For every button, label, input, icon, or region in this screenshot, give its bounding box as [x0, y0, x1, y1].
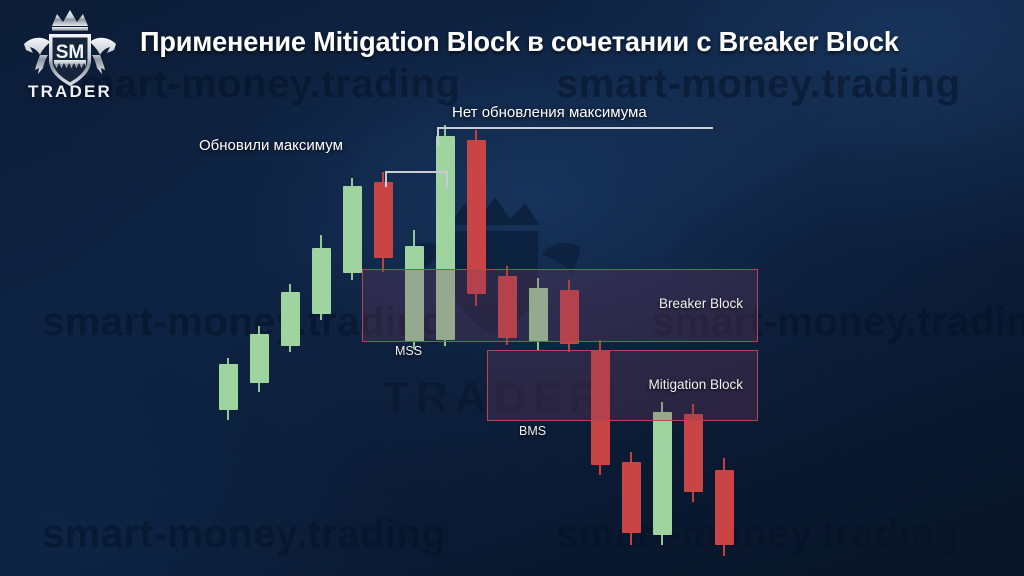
logo-monogram: SM: [56, 42, 85, 63]
candle-body: [653, 412, 672, 535]
candle-body: [684, 414, 703, 492]
annotation-bms: BMS: [519, 424, 546, 438]
candle-5: [343, 178, 362, 280]
breaker-block-zone[interactable]: Breaker Block: [362, 269, 758, 342]
annotation-updated-high-tick-left: [385, 171, 387, 187]
candle-6: [374, 172, 393, 272]
candle-body: [343, 186, 362, 273]
candle-body: [281, 292, 300, 346]
page-title: Применение Mitigation Block в сочетании …: [140, 26, 976, 58]
annotation-no-new-high-tick: [437, 127, 439, 146]
annotation-mss: MSS: [395, 344, 422, 358]
annotation-no-new-high: Нет обновления максимума: [452, 104, 647, 121]
candle-15: [653, 402, 672, 545]
breaker-block-label: Breaker Block: [659, 296, 743, 311]
annotation-updated-high: Обновили максимум: [199, 137, 343, 154]
candle-3: [281, 284, 300, 352]
mitigation-block-label: Mitigation Block: [648, 377, 743, 392]
candle-4: [312, 235, 331, 320]
candle-17: [715, 458, 734, 556]
candle-2: [250, 326, 269, 392]
candle-body: [715, 470, 734, 545]
logo-wordmark: TRADER: [16, 82, 124, 102]
candle-1: [219, 358, 238, 420]
candle-body: [622, 462, 641, 533]
chart-screenshot: smart-money.trading smart-money.trading …: [0, 0, 1024, 576]
header: SM TRADER Применение Mitigation Block в …: [0, 0, 1024, 95]
candle-body: [219, 364, 238, 410]
annotation-no-new-high-line: [437, 127, 713, 129]
candle-14: [622, 452, 641, 545]
candle-body: [312, 248, 331, 314]
brand-logo: SM TRADER: [16, 8, 124, 104]
mitigation-block-zone[interactable]: Mitigation Block: [487, 350, 758, 421]
candle-body: [250, 334, 269, 383]
annotation-updated-high-line: [385, 171, 448, 173]
annotation-updated-high-tick-right: [446, 171, 448, 187]
candle-body: [374, 182, 393, 258]
